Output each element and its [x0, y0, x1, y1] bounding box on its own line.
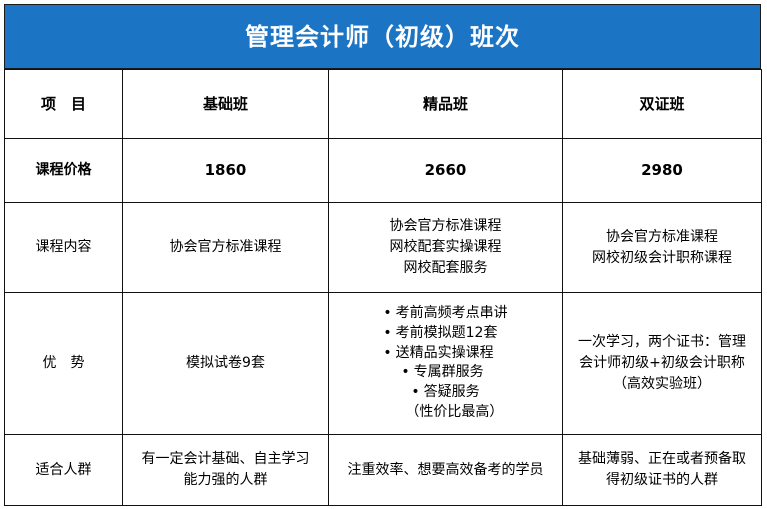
advantage-premium-list: 考前高频考点串讲 考前模拟题12套 送精品实操课程 专属群服务 答疑服务 （性价… [383, 304, 507, 423]
audience-basic-line: 能力强的人群 [129, 470, 322, 491]
price-premium: 2660 [329, 139, 563, 203]
class-comparison-table: 项 目 基础班 精品班 双证班 课程价格 1860 2660 2980 课程内容… [4, 69, 762, 506]
table-title-banner: 管理会计师（初级）班次 [4, 4, 761, 69]
price-basic: 1860 [123, 139, 329, 203]
pricing-table-sheet: 管理会计师（初级）班次 项 目 基础班 精品班 双证班 课程价格 1860 26… [4, 4, 761, 504]
advantage-premium: 考前高频考点串讲 考前模拟题12套 送精品实操课程 专属群服务 答疑服务 （性价… [329, 293, 563, 435]
content-basic-line: 协会官方标准课程 [129, 237, 322, 258]
price-dual: 2980 [563, 139, 762, 203]
list-item: 专属群服务 [383, 363, 507, 383]
list-item: （性价比最高） [383, 403, 507, 423]
column-header-item: 项 目 [5, 70, 123, 139]
list-item: 考前高频考点串讲 [383, 304, 507, 324]
content-premium: 协会官方标准课程 网校配套实操课程 网校配套服务 [329, 203, 563, 293]
advantage-basic: 模拟试卷9套 [123, 293, 329, 435]
list-item: 答疑服务 [383, 383, 507, 403]
content-dual-line: 协会官方标准课程 [569, 227, 755, 248]
row-label-content: 课程内容 [5, 203, 123, 293]
table-header-row: 项 目 基础班 精品班 双证班 [5, 70, 762, 139]
table-row: 优 势 模拟试卷9套 考前高频考点串讲 考前模拟题12套 送精品实操课程 专属群… [5, 293, 762, 435]
table-row: 课程价格 1860 2660 2980 [5, 139, 762, 203]
advantage-basic-line: 模拟试卷9套 [129, 353, 322, 374]
content-premium-line: 网校配套实操课程 [335, 237, 556, 258]
row-label-audience: 适合人群 [5, 435, 123, 506]
advantage-dual-line: 一次学习，两个证书：管理 [569, 332, 755, 353]
advantage-dual-line: 会计师初级+初级会计职称 [569, 353, 755, 374]
table-row: 课程内容 协会官方标准课程 协会官方标准课程 网校配套实操课程 网校配套服务 协… [5, 203, 762, 293]
list-item: 送精品实操课程 [383, 344, 507, 364]
audience-dual-line: 基础薄弱、正在或者预备取 [569, 449, 755, 470]
audience-premium: 注重效率、想要高效备考的学员 [329, 435, 563, 506]
column-header-dual: 双证班 [563, 70, 762, 139]
content-premium-line: 网校配套服务 [335, 258, 556, 279]
content-dual: 协会官方标准课程 网校初级会计职称课程 [563, 203, 762, 293]
audience-dual: 基础薄弱、正在或者预备取 得初级证书的人群 [563, 435, 762, 506]
content-premium-line: 协会官方标准课程 [335, 216, 556, 237]
row-label-advantage: 优 势 [5, 293, 123, 435]
content-basic: 协会官方标准课程 [123, 203, 329, 293]
table-row: 适合人群 有一定会计基础、自主学习 能力强的人群 注重效率、想要高效备考的学员 … [5, 435, 762, 506]
audience-premium-line: 注重效率、想要高效备考的学员 [335, 460, 556, 481]
audience-basic-line: 有一定会计基础、自主学习 [129, 449, 322, 470]
content-dual-line: 网校初级会计职称课程 [569, 248, 755, 269]
page-title: 管理会计师（初级）班次 [245, 25, 520, 49]
column-header-premium: 精品班 [329, 70, 563, 139]
audience-dual-line: 得初级证书的人群 [569, 470, 755, 491]
row-label-price: 课程价格 [5, 139, 123, 203]
audience-basic: 有一定会计基础、自主学习 能力强的人群 [123, 435, 329, 506]
column-header-basic: 基础班 [123, 70, 329, 139]
list-item: 考前模拟题12套 [383, 324, 507, 344]
advantage-dual: 一次学习，两个证书：管理 会计师初级+初级会计职称 （高效实验班） [563, 293, 762, 435]
advantage-dual-line: （高效实验班） [569, 374, 755, 395]
